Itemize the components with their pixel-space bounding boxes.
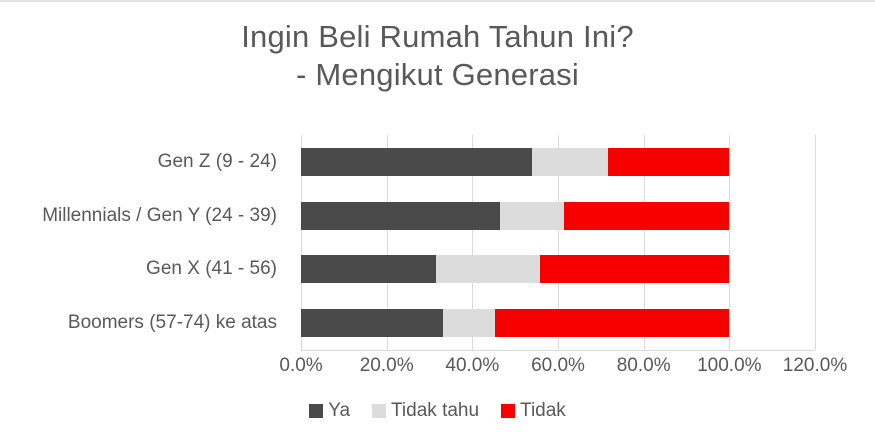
y-axis-label-gen-x: Gen X (41 - 56) xyxy=(0,243,289,297)
x-axis-tick-label: 80.0% xyxy=(617,354,671,378)
x-axis-line xyxy=(301,350,815,351)
plot-area xyxy=(301,135,815,350)
bar-segment-tidak[interactable] xyxy=(495,309,729,337)
legend-swatch-icon xyxy=(501,404,515,418)
legend: Ya Tidak tahu Tidak xyxy=(0,400,875,422)
y-axis-label-millennials: Millennials / Gen Y (24 - 39) xyxy=(0,189,289,243)
bar-rows xyxy=(301,135,815,350)
legend-label: Tidak tahu xyxy=(391,400,479,422)
stacked-bar-gen-z xyxy=(301,148,815,176)
gridline xyxy=(815,135,816,350)
bar-segment-tidak-tahu[interactable] xyxy=(443,309,495,337)
bar-segment-tidak-tahu[interactable] xyxy=(436,255,540,283)
table-row xyxy=(301,135,815,189)
y-axis-label-boomers: Boomers (57-74) ke atas xyxy=(0,296,289,350)
x-axis-tick-label: 0.0% xyxy=(279,354,322,378)
table-row xyxy=(301,296,815,350)
bar-segment-ya[interactable] xyxy=(301,148,532,176)
y-axis-label-gen-z: Gen Z (9 - 24) xyxy=(0,135,289,189)
bar-segment-ya[interactable] xyxy=(301,202,500,230)
bar-segment-tidak[interactable] xyxy=(608,148,730,176)
stacked-bar-millennials xyxy=(301,202,815,230)
bar-segment-ya[interactable] xyxy=(301,255,436,283)
chart-title: Ingin Beli Rumah Tahun Ini? - Mengikut G… xyxy=(0,18,875,94)
legend-swatch-icon xyxy=(309,404,323,418)
x-axis-tick-label: 120.0% xyxy=(783,354,847,378)
bar-segment-tidak[interactable] xyxy=(540,255,729,283)
bar-segment-ya[interactable] xyxy=(301,309,443,337)
stacked-bar-gen-x xyxy=(301,255,815,283)
x-axis-tick-label: 20.0% xyxy=(360,354,414,378)
bar-segment-tidak-tahu[interactable] xyxy=(532,148,608,176)
x-axis-tick-label: 100.0% xyxy=(697,354,761,378)
y-axis-category-labels: Gen Z (9 - 24) Millennials / Gen Y (24 -… xyxy=(0,135,289,350)
legend-label: Ya xyxy=(328,400,350,422)
x-axis-tick-label: 40.0% xyxy=(445,354,499,378)
bar-segment-tidak-tahu[interactable] xyxy=(500,202,564,230)
table-row xyxy=(301,189,815,243)
table-row xyxy=(301,243,815,297)
legend-item-tidak-tahu[interactable]: Tidak tahu xyxy=(372,400,479,422)
legend-label: Tidak xyxy=(520,400,566,422)
x-axis-tick-label: 60.0% xyxy=(531,354,585,378)
legend-item-ya[interactable]: Ya xyxy=(309,400,350,422)
legend-item-tidak[interactable]: Tidak xyxy=(501,400,566,422)
chart-container: Ingin Beli Rumah Tahun Ini? - Mengikut G… xyxy=(0,0,875,447)
bar-segment-tidak[interactable] xyxy=(564,202,729,230)
stacked-bar-boomers xyxy=(301,309,815,337)
legend-swatch-icon xyxy=(372,404,386,418)
x-axis-tick-labels: 0.0%20.0%40.0%60.0%80.0%100.0%120.0% xyxy=(301,354,815,380)
